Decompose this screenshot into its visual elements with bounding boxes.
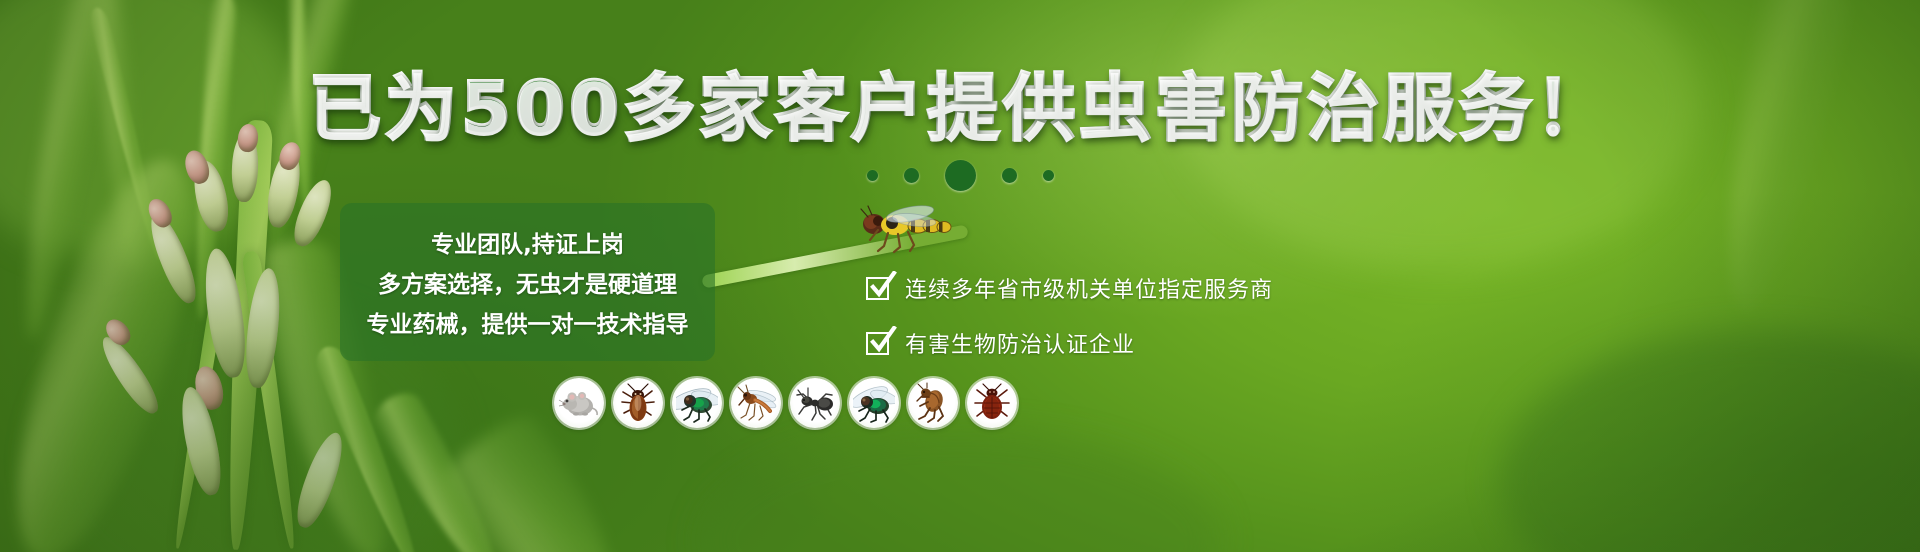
cockroach-icon[interactable] [613,378,663,428]
pest-type-icon-row [554,378,1017,428]
feature-line-2: 多方案选择，无虫才是硬道理 [378,265,677,299]
decor-dot [867,170,878,181]
decorative-dot-row [0,160,1920,191]
headline-text: 已为500多家客户提供虫害防治服务！ [309,66,1611,150]
ant-icon[interactable] [790,378,840,428]
checkbox-checked-icon [866,275,892,301]
bullet-label: 连续多年省市级机关单位指定服务商 [905,272,1273,304]
decor-dot [1002,168,1017,183]
flea-icon[interactable] [908,378,958,428]
hoverfly-illustration [848,198,958,256]
bullet-label: 有害生物防治认证企业 [905,327,1135,359]
feature-line-3: 专业药械，提供一对一技术指导 [367,305,689,339]
certification-bullet-list: 连续多年省市级机关单位指定服务商 有害生物防治认证企业 [866,272,1273,359]
bullet-item: 有害生物防治认证企业 [866,327,1273,359]
blowfly-icon[interactable] [849,378,899,428]
decor-dot [904,168,919,183]
fly-icon[interactable] [672,378,722,428]
page-title: 已为500多家客户提供虫害防治服务！ [0,72,1920,144]
mouse-icon[interactable] [554,378,604,428]
feature-highlight-panel: 专业团队,持证上岗 多方案选择，无虫才是硬道理 专业药械，提供一对一技术指导 [340,203,715,361]
bullet-item: 连续多年省市级机关单位指定服务商 [866,272,1273,304]
feature-line-1: 专业团队,持证上岗 [431,225,624,259]
promotional-banner: 已为500多家客户提供虫害防治服务！ 专业团队,持证上岗 多方案选择，无虫才是硬… [0,0,1920,552]
decor-dot [945,160,976,191]
checkbox-checked-icon [866,330,892,356]
decor-dot [1043,170,1054,181]
mosquito-icon[interactable] [731,378,781,428]
bedbug-icon[interactable] [967,378,1017,428]
